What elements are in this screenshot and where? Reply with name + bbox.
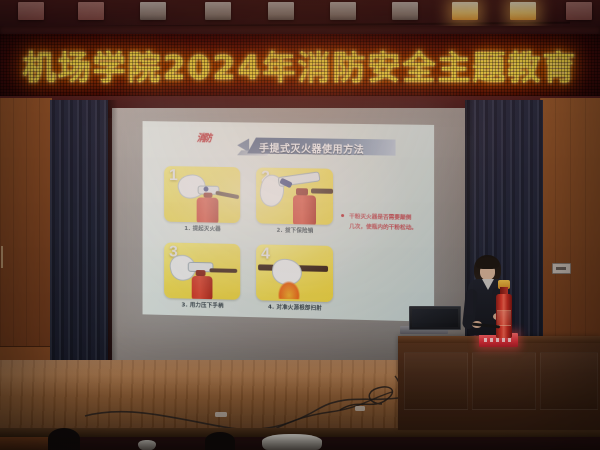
step-caption: 1. 提起灭火器 xyxy=(155,223,250,233)
spray-illustration xyxy=(278,281,300,300)
extinguisher-body xyxy=(192,276,213,300)
podium-panel xyxy=(404,352,468,410)
slide-note-line-2: 几次，使瓶内的干粉松动。 xyxy=(349,223,434,235)
podium-panel xyxy=(540,352,598,410)
ceiling-light xyxy=(78,2,104,20)
extinguisher-hose xyxy=(215,191,239,199)
step-card-3: 3 xyxy=(164,242,240,299)
ceiling-light xyxy=(510,2,536,20)
curtain-shadow xyxy=(108,100,118,378)
slide-title: 手提式灭火器使用方法 xyxy=(259,140,400,157)
extinguisher-label xyxy=(497,310,511,326)
presenter-bangs xyxy=(476,257,499,269)
ceiling-light xyxy=(18,2,44,20)
power-outlet xyxy=(552,263,571,274)
slide-note: 干粉灭火器是否需要颠倒 几次，使瓶内的干粉松动。 xyxy=(349,212,434,234)
ceiling-light xyxy=(566,2,592,20)
step-caption: 2. 拔下保险销 xyxy=(247,225,343,235)
safety-pin xyxy=(204,187,209,192)
laptop-screen xyxy=(409,306,461,330)
left-wood-panel xyxy=(0,98,52,378)
stage-curtain-left xyxy=(50,100,108,378)
ceiling-light xyxy=(452,2,478,20)
auditorium-photo: 机场学院2024年消防安全主题教育 消防 手提式灭火器使用方法 1 xyxy=(0,0,600,450)
projection-screen: 消防 手提式灭火器使用方法 1 2 xyxy=(143,121,435,322)
extinguisher-hose xyxy=(311,188,333,193)
step-card-4: 4 xyxy=(256,244,333,302)
fire-extinguisher xyxy=(494,278,514,340)
ceiling-light xyxy=(205,2,231,20)
podium-panel xyxy=(472,352,536,410)
ceiling-light xyxy=(268,2,294,20)
step-card-2: 2 xyxy=(256,168,333,225)
ceiling xyxy=(0,0,600,34)
ceiling-light xyxy=(392,2,418,20)
extinguisher-body xyxy=(197,197,219,223)
door-handle xyxy=(1,246,3,268)
bullet-icon xyxy=(341,214,344,217)
led-banner: 机场学院2024年消防安全主题教育 xyxy=(0,34,600,96)
ceiling-light xyxy=(330,2,356,20)
ceiling-light xyxy=(140,2,166,20)
slide-steps-grid: 1 2 3 xyxy=(164,166,333,304)
step-card-1: 1 xyxy=(164,166,240,223)
right-wood-panel xyxy=(540,98,600,376)
step-number: 4 xyxy=(261,245,270,263)
step-number: 1 xyxy=(169,167,178,185)
audience-row-shadow xyxy=(0,436,600,450)
led-banner-text: 机场学院2024年消防安全主题教育 xyxy=(0,41,600,89)
extinguisher-body xyxy=(293,195,316,225)
extinguisher-hose xyxy=(209,268,237,273)
